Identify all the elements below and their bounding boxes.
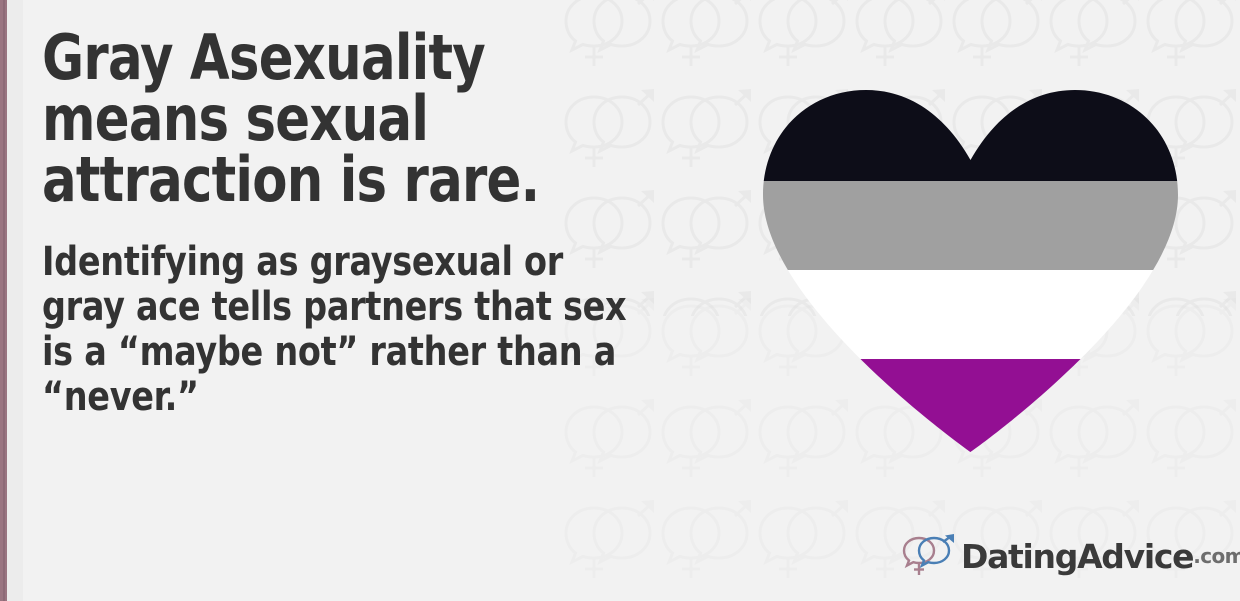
asexual-pride-heart — [763, 90, 1178, 452]
subtitle-text: Identifying as graysexual or gray ace te… — [42, 240, 656, 419]
brand-name: DatingAdvice — [961, 540, 1193, 573]
heart-band-gray — [763, 181, 1178, 270]
left-accent-stripe — [0, 0, 7, 601]
left-accent-stripe-inner — [3, 0, 5, 601]
heart-band-white — [763, 270, 1178, 359]
left-gutter — [7, 0, 23, 601]
gender-symbols-logo-icon — [902, 534, 958, 578]
infographic-card: Gray Asexuality means sexual attraction … — [0, 0, 1240, 601]
heart-flag-graphic — [763, 90, 1178, 452]
text-block: Gray Asexuality means sexual attraction … — [42, 28, 702, 419]
brand-logo[interactable]: DatingAdvice .com — [902, 533, 1240, 579]
brand-tld: .com — [1193, 546, 1240, 566]
heart-band-purple — [763, 359, 1178, 452]
page-title: Gray Asexuality means sexual attraction … — [42, 28, 649, 210]
heart-band-black — [763, 90, 1178, 181]
